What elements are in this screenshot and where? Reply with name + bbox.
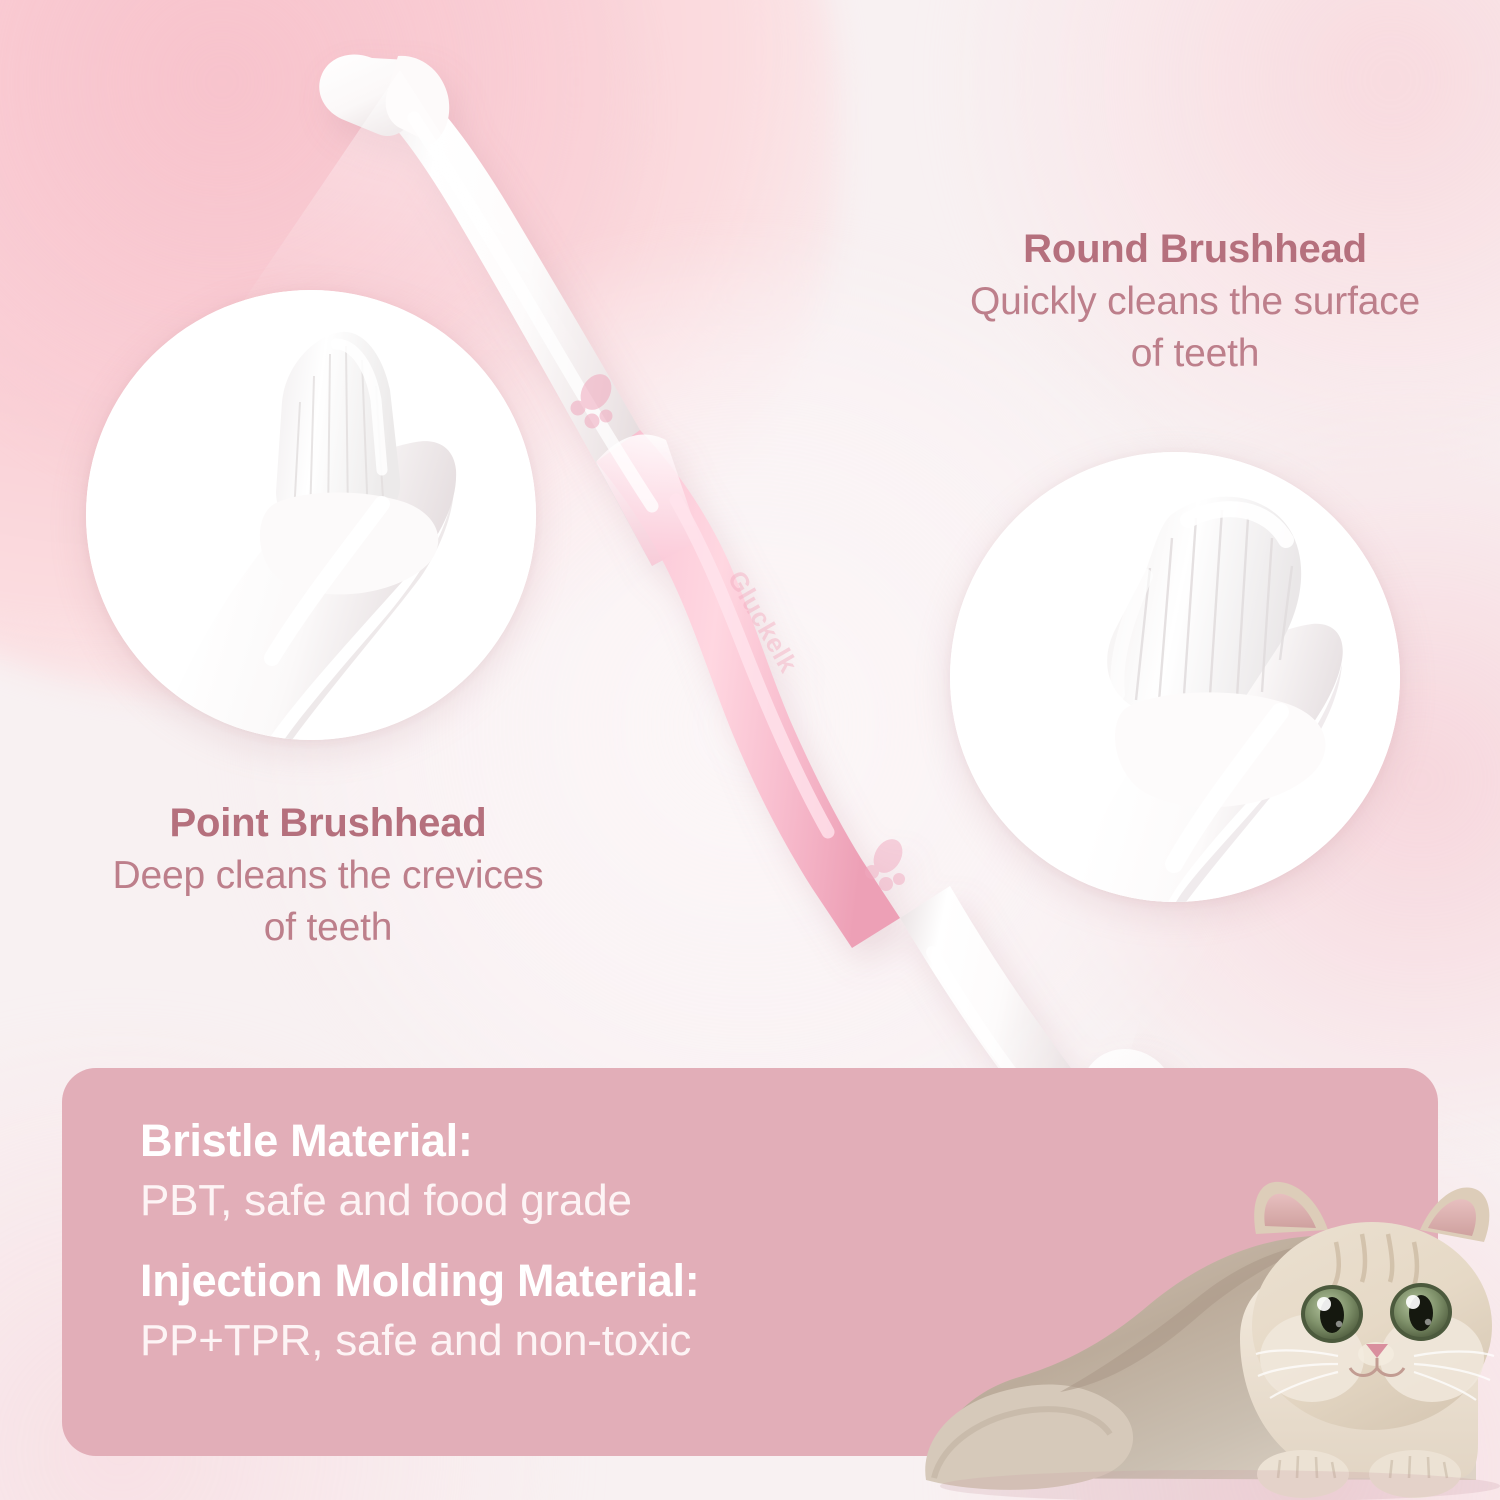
point-brush-head-closeup: [86, 290, 536, 740]
callout-round-brushhead: Round Brushhead Quickly cleans the surfa…: [905, 226, 1485, 377]
material-row-injection: Injection Molding Material: PP+TPR, safe…: [140, 1254, 1020, 1368]
toothbrush-handle-highlight: [676, 500, 828, 832]
round-brush-head-closeup: [950, 452, 1400, 902]
callout-round-description-line2: of teeth: [905, 331, 1485, 377]
material-row-bristle: Bristle Material: PBT, safe and food gra…: [140, 1114, 1020, 1228]
material-label-injection: Injection Molding Material:: [140, 1254, 1020, 1308]
callout-round-description-line1: Quickly cleans the surface: [905, 279, 1485, 325]
material-label-bristle: Bristle Material:: [140, 1114, 1020, 1168]
materials-list: Bristle Material: PBT, safe and food gra…: [140, 1114, 1020, 1367]
callout-point-brushhead: Point Brushhead Deep cleans the crevices…: [44, 800, 612, 951]
material-value-bristle: PBT, safe and food grade: [140, 1174, 1020, 1228]
callout-point-title: Point Brushhead: [44, 800, 612, 847]
callout-point-description-line2: of teeth: [44, 905, 612, 951]
materials-panel: Bristle Material: PBT, safe and food gra…: [62, 1068, 1438, 1456]
round-brush-head-closeup-image: [950, 452, 1400, 902]
callout-point-description-line1: Deep cleans the crevices: [44, 853, 612, 899]
material-value-injection: PP+TPR, safe and non-toxic: [140, 1314, 1020, 1368]
callout-round-title: Round Brushhead: [905, 226, 1485, 273]
point-brush-head-closeup-image: [86, 290, 536, 740]
